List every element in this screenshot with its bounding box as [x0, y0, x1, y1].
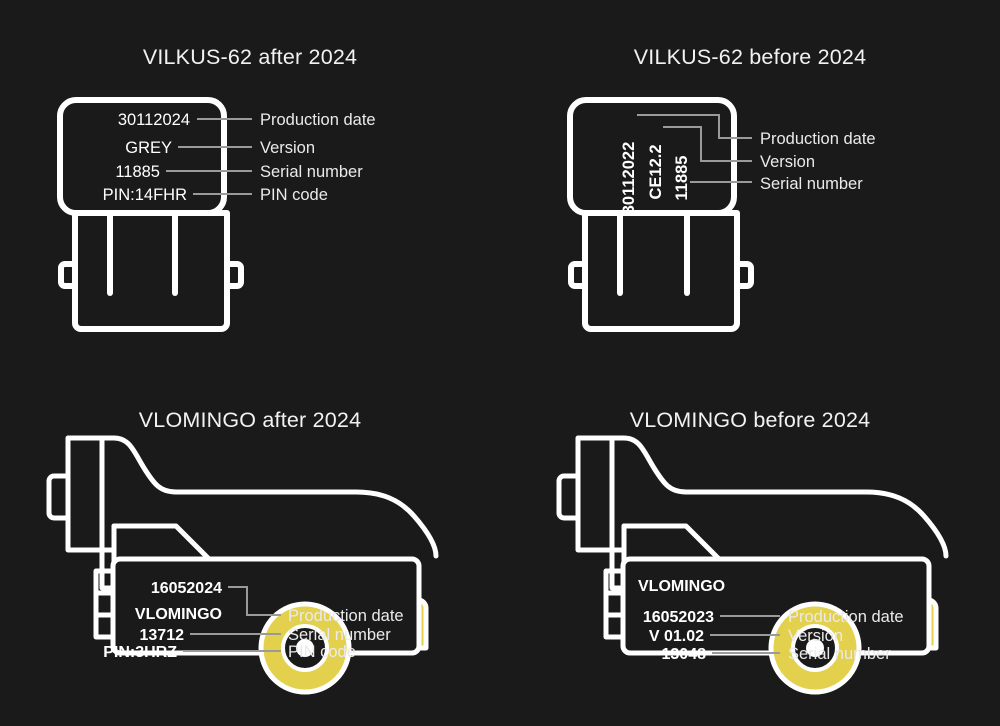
panel-vlomingo-before-2024: VLOMINGO before 2024 — [500, 363, 1000, 726]
plate-heading: VLOMINGO — [638, 578, 725, 595]
label-2: Serial number — [788, 645, 891, 663]
label-0: Production date — [760, 130, 876, 148]
value-1: VLOMINGO — [135, 606, 222, 623]
label-0: Production date — [260, 111, 376, 129]
vilkus62-after-illustration: 30112024 GREY 11885 PIN:14FHR Production… — [0, 0, 500, 363]
value-0: 30112024 — [118, 111, 190, 129]
diagram-canvas: VILKUS-62 after 2024 — [0, 0, 1000, 726]
label-1: Version — [760, 153, 815, 171]
value-3: PIN:14FHR — [103, 186, 187, 204]
vlomingo-after-illustration: 16052024 VLOMINGO 13712 PIN:3HRZ Product… — [0, 363, 500, 726]
value-1: CE12.2 — [647, 144, 665, 199]
label-3: PIN code — [260, 186, 328, 204]
label-1: Version — [260, 139, 315, 157]
value-3: PIN:3HRZ — [103, 644, 177, 661]
value-2: 13048 — [662, 646, 707, 663]
label-0: Production date — [288, 607, 404, 625]
label-2: Serial number — [288, 626, 391, 644]
connector-body — [61, 213, 241, 329]
panel-vilkus62-before-2024: VILKUS-62 before 2024 30112022 CE12.2 — [500, 0, 1000, 363]
label-2: Serial number — [760, 175, 863, 193]
value-1: GREY — [125, 139, 172, 157]
value-0: 16052023 — [643, 609, 714, 626]
value-1: V 01.02 — [649, 628, 704, 645]
label-3: PIN code — [288, 643, 356, 661]
value-2: 11885 — [673, 156, 691, 201]
connector-body — [571, 213, 751, 329]
value-2: 13712 — [140, 627, 185, 644]
value-2: 11885 — [115, 163, 160, 181]
vlomingo-before-illustration: VLOMINGO 16052023 V 01.02 13048 Producti… — [500, 363, 1000, 726]
value-0: 30112022 — [620, 142, 638, 215]
label-1: Version — [788, 627, 843, 645]
panel-vlomingo-after-2024: VLOMINGO after 2024 — [0, 363, 500, 726]
label-0: Production date — [788, 608, 904, 626]
vilkus62-before-illustration: 30112022 CE12.2 11885 Production date Ve… — [500, 0, 1000, 363]
value-0: 16052024 — [151, 580, 222, 597]
panel-vilkus62-after-2024: VILKUS-62 after 2024 — [0, 0, 500, 363]
label-2: Serial number — [260, 163, 363, 181]
